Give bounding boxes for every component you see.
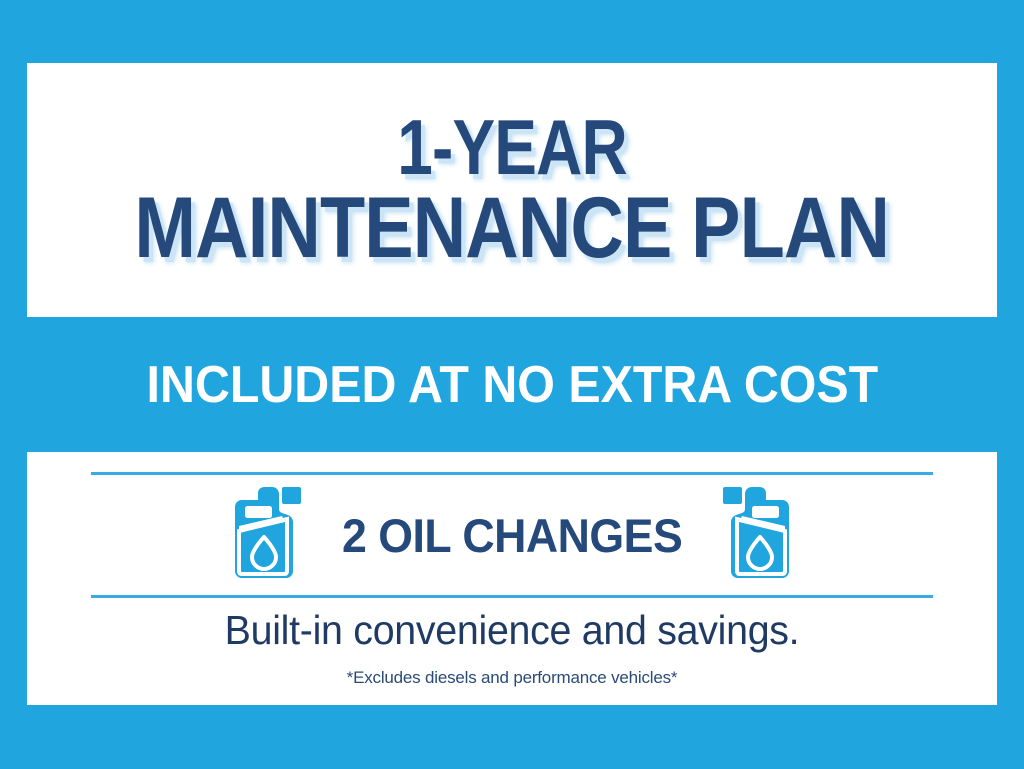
disclaimer: *Excludes diesels and performance vehicl… [27, 668, 997, 688]
headline-line-1: 1-YEAR [397, 112, 627, 184]
feature-row: 2 OIL CHANGES [27, 476, 997, 594]
divider-top [91, 472, 933, 475]
divider-bottom [91, 595, 933, 598]
headline-card: 1-YEAR MAINTENANCE PLAN [27, 63, 997, 317]
subtitle-band: INCLUDED AT NO EXTRA COST [0, 317, 1024, 452]
oil-jug-icon-right [721, 485, 799, 586]
subtitle-text: INCLUDED AT NO EXTRA COST [146, 355, 878, 415]
headline-line-2: MAINTENANCE PLAN [135, 189, 890, 268]
feature-label: 2 OIL CHANGES [342, 508, 682, 563]
tagline: Built-in convenience and savings. [46, 607, 977, 654]
oil-jug-icon-left [225, 485, 303, 586]
details-card: 2 OIL CHANGES Built-in convenience and s… [27, 452, 997, 705]
promo-poster: 1-YEAR MAINTENANCE PLAN INCLUDED AT NO E… [0, 0, 1024, 769]
